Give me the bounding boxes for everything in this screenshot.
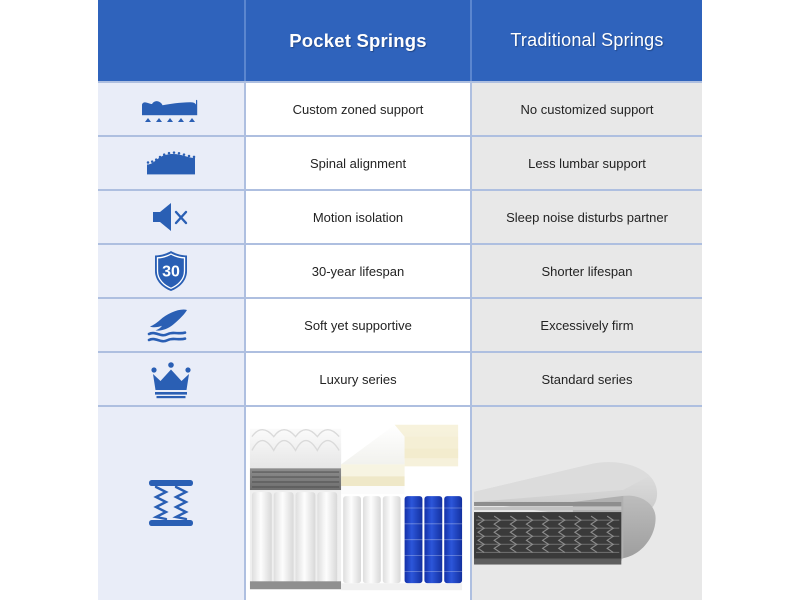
row-icon-cell xyxy=(98,299,246,351)
header-traditional-springs-label: Traditional Springs xyxy=(510,30,663,51)
row-pocket-text: Custom zoned support xyxy=(293,102,424,117)
person-on-bed-icon xyxy=(140,92,202,126)
pocket-mattress-image-cell xyxy=(246,407,472,600)
row-traditional-text: Less lumbar support xyxy=(528,156,646,171)
row-pocket-cell: 30-year lifespan xyxy=(246,245,472,297)
row-traditional-cell: Less lumbar support xyxy=(472,137,702,189)
header-traditional-springs: Traditional Springs xyxy=(472,0,702,81)
row-icon-cell xyxy=(98,137,246,189)
row-traditional-text: Excessively firm xyxy=(540,318,633,333)
table-header-row: Pocket Springs Traditional Springs xyxy=(98,0,702,81)
row-traditional-text: No customized support xyxy=(521,102,654,117)
row-pocket-text: 30-year lifespan xyxy=(312,264,405,279)
traditional-spring-mattress-cutaway xyxy=(472,407,702,600)
table-row: Spinal alignment Less lumbar support xyxy=(98,135,702,189)
row-icon-cell: 30 xyxy=(98,245,246,297)
row-pocket-text: Spinal alignment xyxy=(310,156,406,171)
row-traditional-cell: No customized support xyxy=(472,83,702,135)
row-pocket-cell: Spinal alignment xyxy=(246,137,472,189)
header-icon-column xyxy=(98,0,246,81)
row-traditional-cell: Excessively firm xyxy=(472,299,702,351)
row-traditional-text: Sleep noise disturbs partner xyxy=(506,210,668,225)
table-row: Custom zoned support No customized suppo… xyxy=(98,81,702,135)
crown-icon xyxy=(147,358,195,400)
hand-on-waves-icon xyxy=(142,304,200,346)
row-pocket-text: Soft yet supportive xyxy=(304,318,412,333)
row-pocket-cell: Luxury series xyxy=(246,353,472,405)
table-row: 30 30-year lifespan Shorter lifespan xyxy=(98,243,702,297)
table-row: Motion isolation Sleep noise disturbs pa… xyxy=(98,189,702,243)
table-row: Luxury series Standard series xyxy=(98,351,702,405)
row-pocket-text: Motion isolation xyxy=(313,210,403,225)
row-pocket-cell: Motion isolation xyxy=(246,191,472,243)
row-traditional-text: Shorter lifespan xyxy=(541,264,632,279)
row-icon-cell xyxy=(98,191,246,243)
row-traditional-cell: Standard series xyxy=(472,353,702,405)
traditional-mattress-image-cell xyxy=(472,407,702,600)
comparison-table: Pocket Springs Traditional Springs Cus xyxy=(98,0,702,600)
pocket-spring-mattress-cutaway xyxy=(246,407,470,600)
spine-curve-icon xyxy=(143,148,199,178)
coil-springs-icon xyxy=(145,474,197,534)
row-pocket-text: Luxury series xyxy=(319,372,396,387)
table-row: Soft yet supportive Excessively firm xyxy=(98,297,702,351)
row-icon-cell xyxy=(98,407,246,600)
header-pocket-springs: Pocket Springs xyxy=(246,0,472,81)
row-icon-cell xyxy=(98,83,246,135)
table-image-row xyxy=(98,405,702,600)
row-traditional-cell: Sleep noise disturbs partner xyxy=(472,191,702,243)
shield-icon-text: 30 xyxy=(162,264,180,281)
row-pocket-cell: Custom zoned support xyxy=(246,83,472,135)
header-pocket-springs-label: Pocket Springs xyxy=(289,30,426,52)
comparison-table-page: Pocket Springs Traditional Springs Cus xyxy=(0,0,800,600)
row-traditional-cell: Shorter lifespan xyxy=(472,245,702,297)
row-traditional-text: Standard series xyxy=(541,372,632,387)
shield-30-icon: 30 xyxy=(151,249,191,293)
row-pocket-cell: Soft yet supportive xyxy=(246,299,472,351)
row-icon-cell xyxy=(98,353,246,405)
speaker-mute-icon xyxy=(145,200,197,234)
